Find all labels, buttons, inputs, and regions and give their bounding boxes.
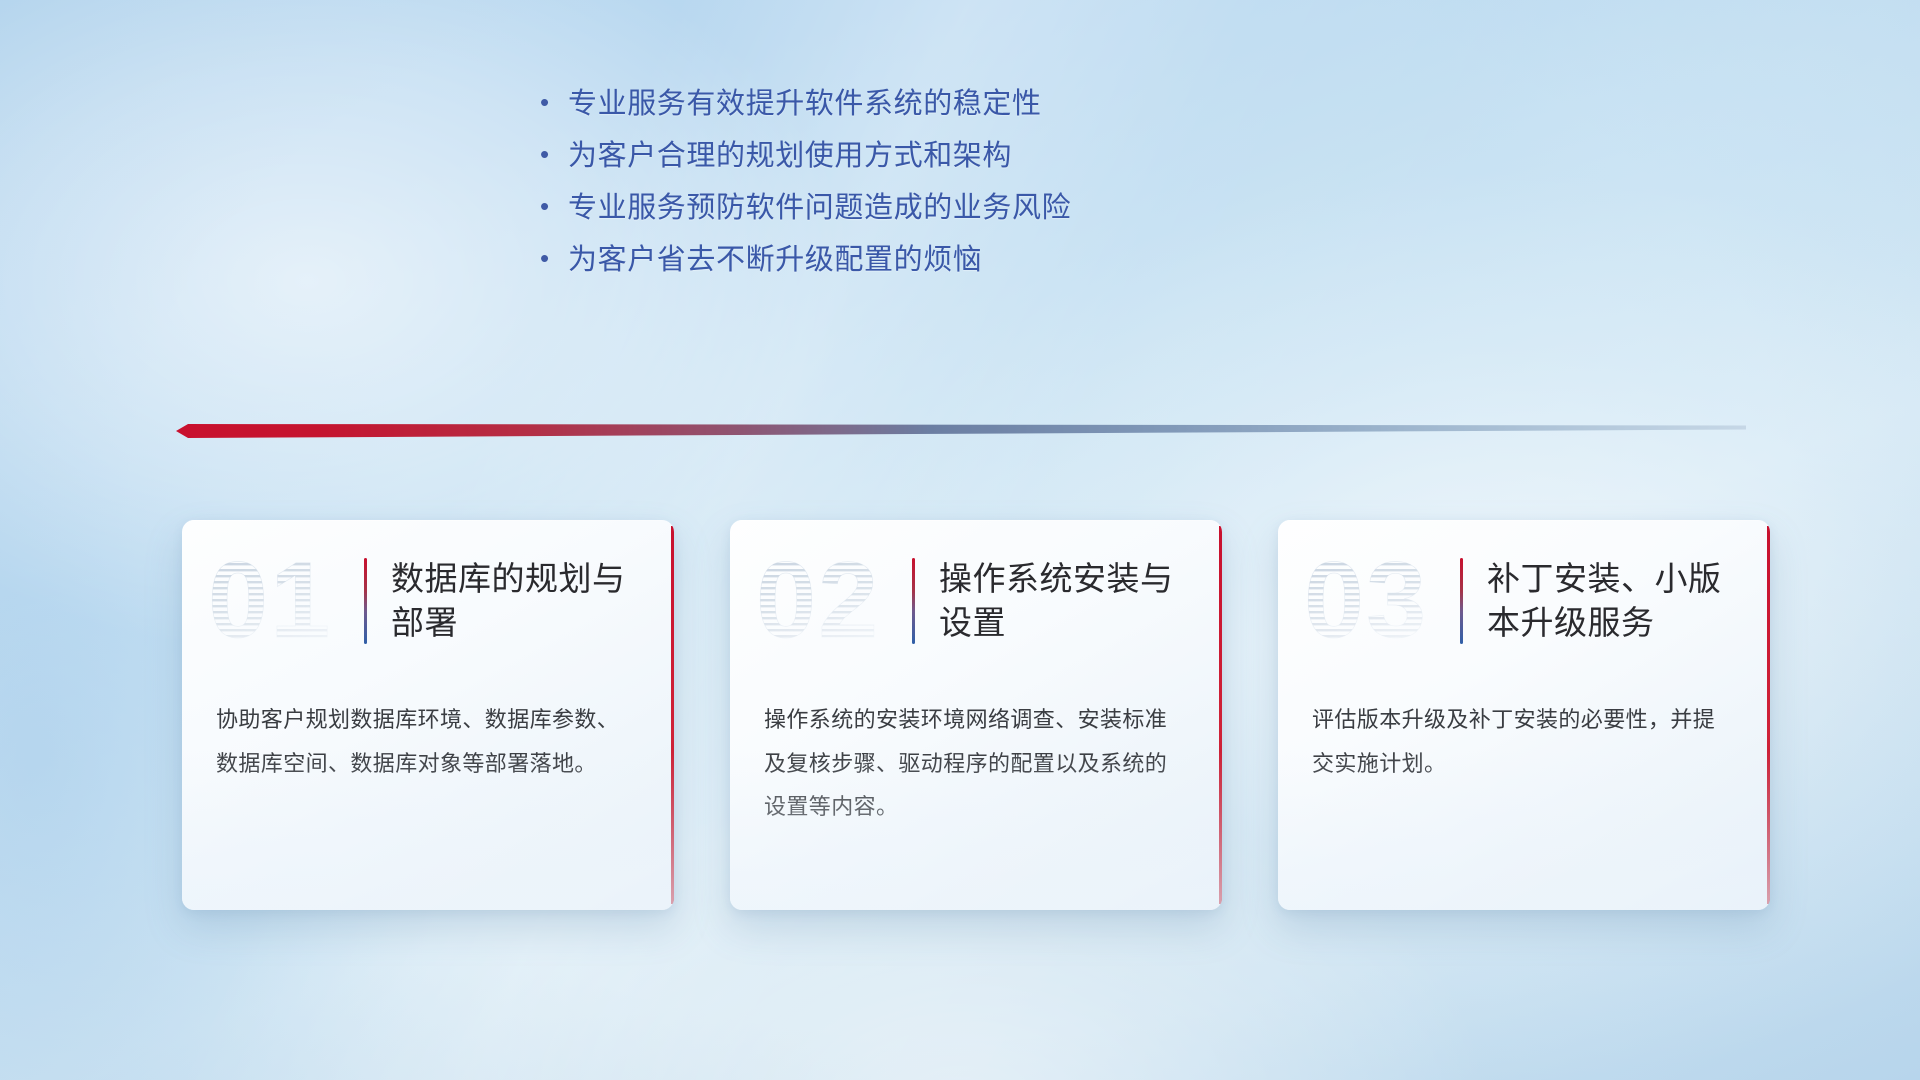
bullet-dot-icon: • xyxy=(540,193,568,219)
card-description: 协助客户规划数据库环境、数据库参数、数据库空间、数据库对象等部署落地。 xyxy=(216,698,640,785)
divider-shape-icon xyxy=(176,418,1746,444)
card-header: 01 01 数据库的规划与部署 xyxy=(182,520,674,670)
service-card[interactable]: 03 03 补丁安装、小版本升级服务 评估版本升级及补丁安装的必要性，并提交实施… xyxy=(1278,520,1770,910)
bullet-label: 为客户省去不断升级配置的烦恼 xyxy=(568,242,982,280)
service-cards-row: 01 01 数据库的规划与部署 协助客户规划数据库环境、数据库参数、数据库空间、… xyxy=(182,520,1772,920)
service-card[interactable]: 02 02 操作系统安装与设置 操作系统的安装环境网络调查、安装标准及复核步骤、… xyxy=(730,520,1222,910)
benefits-bullet-list: • 专业服务有效提升软件系统的稳定性 • 为客户合理的规划使用方式和架构 • 专… xyxy=(540,86,1300,294)
svg-text:01: 01 xyxy=(208,545,332,657)
slide-canvas: • 专业服务有效提升软件系统的稳定性 • 为客户合理的规划使用方式和架构 • 专… xyxy=(0,0,1920,1080)
bullet-item: • 为客户合理的规划使用方式和架构 xyxy=(540,138,1300,190)
bullet-item: • 专业服务有效提升软件系统的稳定性 xyxy=(540,86,1300,138)
card-title: 操作系统安装与设置 xyxy=(939,557,1189,645)
bullet-dot-icon: • xyxy=(540,141,568,167)
service-card[interactable]: 01 01 数据库的规划与部署 协助客户规划数据库环境、数据库参数、数据库空间、… xyxy=(182,520,674,910)
bullet-label: 专业服务有效提升软件系统的稳定性 xyxy=(568,86,1042,124)
svg-text:02: 02 xyxy=(756,545,880,657)
card-title-accent-bar xyxy=(1460,558,1463,644)
bullet-dot-icon: • xyxy=(540,245,568,271)
bullet-item: • 为客户省去不断升级配置的烦恼 xyxy=(540,242,1300,294)
number-glyph-icon: 02 02 xyxy=(756,545,904,657)
card-number-striped: 02 02 xyxy=(756,545,904,657)
card-title-accent-bar xyxy=(364,558,367,644)
card-description: 评估版本升级及补丁安装的必要性，并提交实施计划。 xyxy=(1312,698,1736,785)
section-divider xyxy=(176,418,1746,444)
card-title: 数据库的规划与部署 xyxy=(391,557,641,645)
card-header: 03 03 补丁安装、小版本升级服务 xyxy=(1278,520,1770,670)
svg-text:03: 03 xyxy=(1304,545,1428,657)
card-title-accent-bar xyxy=(912,558,915,644)
card-number-striped: 01 01 xyxy=(208,545,356,657)
number-glyph-icon: 01 01 xyxy=(208,545,356,657)
bullet-label: 专业服务预防软件问题造成的业务风险 xyxy=(568,190,1071,228)
bullet-label: 为客户合理的规划使用方式和架构 xyxy=(568,138,1012,176)
card-number-striped: 03 03 xyxy=(1304,545,1452,657)
number-glyph-icon: 03 03 xyxy=(1304,545,1452,657)
card-title: 补丁安装、小版本升级服务 xyxy=(1487,557,1737,645)
bullet-dot-icon: • xyxy=(540,89,568,115)
card-header: 02 02 操作系统安装与设置 xyxy=(730,520,1222,670)
card-description: 操作系统的安装环境网络调查、安装标准及复核步骤、驱动程序的配置以及系统的设置等内… xyxy=(764,698,1188,829)
bullet-item: • 专业服务预防软件问题造成的业务风险 xyxy=(540,190,1300,242)
